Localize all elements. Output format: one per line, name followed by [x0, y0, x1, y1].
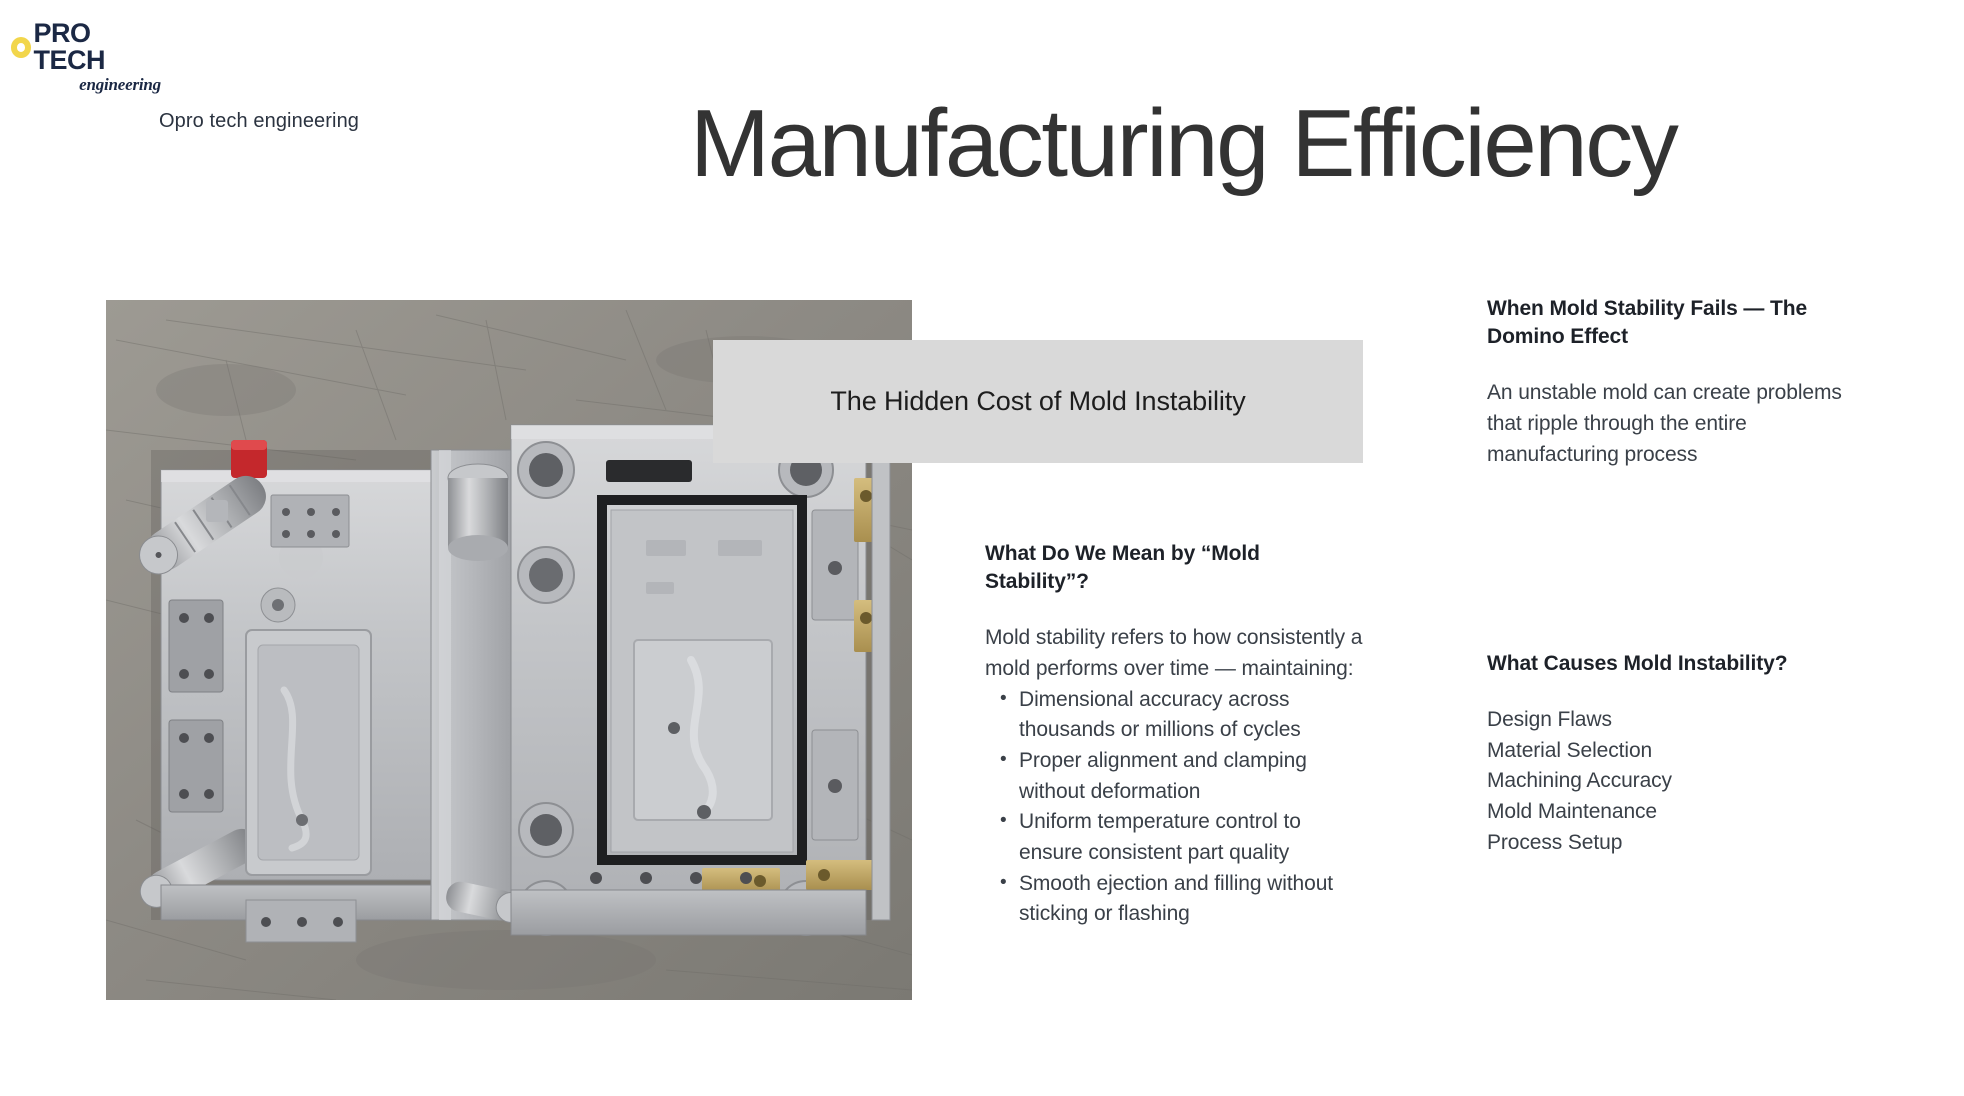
list-item: Smooth ejection and filling without stic…: [985, 869, 1365, 930]
mold-stability-bullets: Dimensional accuracy across thousands or…: [985, 685, 1365, 930]
photo-caption-text: The Hidden Cost of Mold Instability: [830, 386, 1245, 417]
logo-wordmark: PRO TECH: [33, 20, 161, 74]
causes-block: What Causes Mold Instability? Design Fla…: [1487, 650, 1867, 858]
mold-stability-intro: Mold stability refers to how consistentl…: [985, 623, 1365, 684]
brand-line: Opro tech engineering: [159, 110, 359, 133]
list-item: Uniform temperature control to ensure co…: [985, 807, 1365, 868]
company-logo: PRO TECH engineering: [11, 20, 161, 70]
middle-text-column: What Do We Mean by “Mold Stability”? Mol…: [985, 540, 1365, 930]
domino-effect-body: An unstable mold can create problems tha…: [1487, 378, 1867, 470]
page-title: Manufacturing Efficiency: [690, 94, 1677, 195]
photo-caption-banner: The Hidden Cost of Mold Instability: [713, 340, 1363, 463]
list-item: Proper alignment and clamping without de…: [985, 746, 1365, 807]
list-item: Material Selection: [1487, 736, 1867, 767]
bottom-bosses: [550, 934, 602, 986]
circle-o-icon: [11, 37, 31, 58]
list-item: Machining Accuracy: [1487, 766, 1867, 797]
causes-list: Design Flaws Material Selection Machinin…: [1487, 705, 1867, 858]
logo-tagline: engineering: [11, 75, 161, 95]
mold-stability-heading: What Do We Mean by “Mold Stability”?: [985, 540, 1365, 596]
slide-canvas: PRO TECH engineering Opro tech engineeri…: [0, 0, 1964, 1096]
list-item: Dimensional accuracy across thousands or…: [985, 685, 1365, 746]
causes-heading: What Causes Mold Instability?: [1487, 650, 1867, 678]
domino-effect-block: When Mold Stability Fails — The Domino E…: [1487, 295, 1867, 470]
logo-wordmark-row: PRO TECH: [11, 20, 161, 74]
list-item: Design Flaws: [1487, 705, 1867, 736]
domino-effect-heading: When Mold Stability Fails — The Domino E…: [1487, 295, 1867, 351]
list-item: Process Setup: [1487, 828, 1867, 859]
list-item: Mold Maintenance: [1487, 797, 1867, 828]
